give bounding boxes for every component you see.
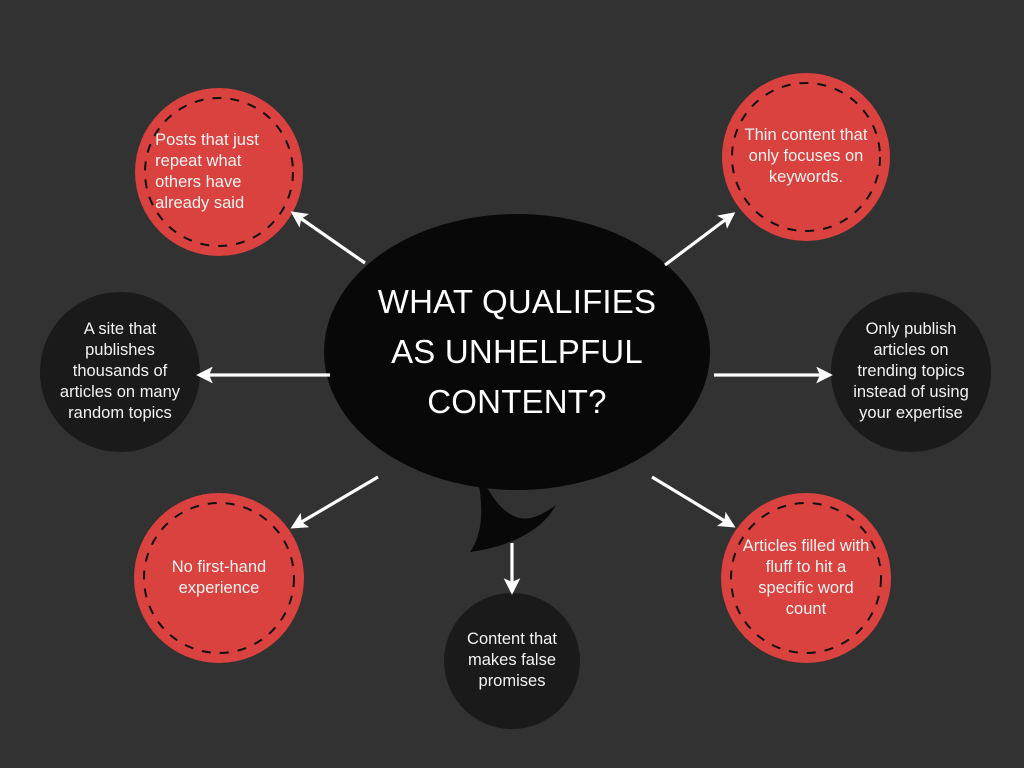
center-speech-bubble xyxy=(324,214,710,552)
node-circle-false-promises[interactable] xyxy=(444,593,580,729)
center-bubble-shape[interactable] xyxy=(324,214,710,552)
arrow-to-repeat-others xyxy=(293,213,365,263)
arrow-to-no-first-hand xyxy=(293,477,378,527)
node-circle-repeat-others[interactable] xyxy=(135,88,303,256)
node-circle-no-first-hand[interactable] xyxy=(134,493,304,663)
diagram-canvas: Posts that just repeat what others have … xyxy=(0,0,1024,768)
arrow-to-fluff-word-count xyxy=(652,477,733,526)
arrow-to-thin-content xyxy=(665,214,733,265)
node-circle-fluff-word-count[interactable] xyxy=(721,493,891,663)
node-circle-trending-topics[interactable] xyxy=(831,292,991,452)
node-circle-thin-content[interactable] xyxy=(722,73,890,241)
node-circle-thousands-articles[interactable] xyxy=(40,292,200,452)
diagram-graphics xyxy=(0,0,1024,768)
